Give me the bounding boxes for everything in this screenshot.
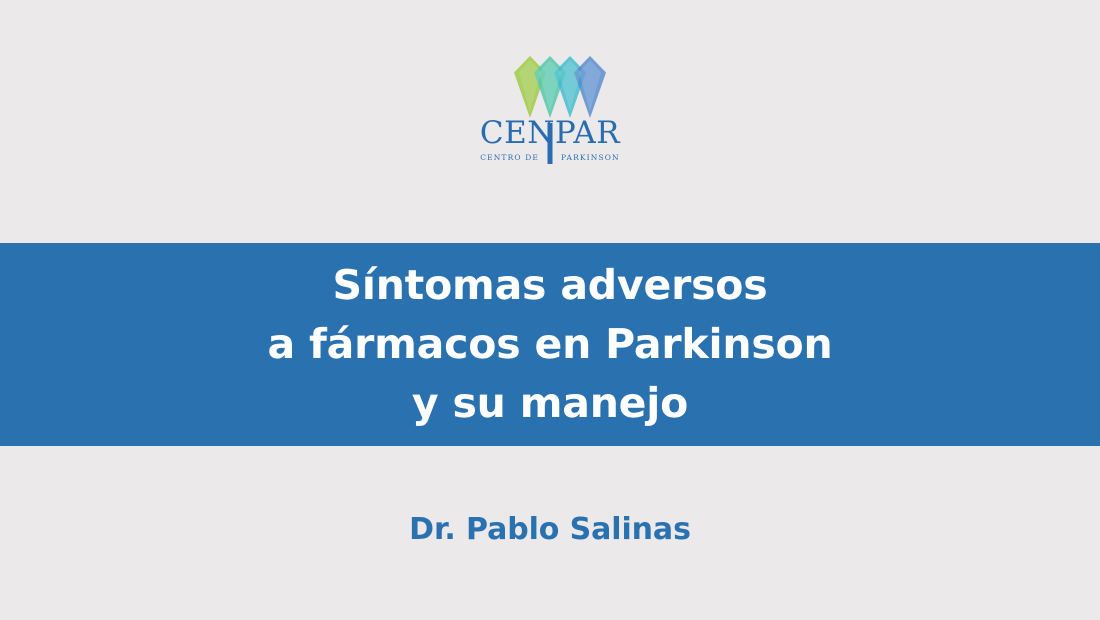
logo-diamond-mark <box>512 56 612 118</box>
logo-inner: CENPAR CENTRO DE PARKINSON <box>466 56 634 168</box>
title-line-2: a fármacos en Parkinson <box>268 315 833 374</box>
slide-title: Síntomas adversos a fármacos en Parkinso… <box>268 256 833 433</box>
title-slide: CENPAR CENTRO DE PARKINSON Síntomas adve… <box>0 0 1100 620</box>
title-line-3: y su manejo <box>268 374 833 433</box>
title-line-1: Síntomas adversos <box>268 256 833 315</box>
author-name: Dr. Pablo Salinas <box>0 510 1100 550</box>
title-band: Síntomas adversos a fármacos en Parkinso… <box>0 243 1100 446</box>
logo-wordmark: CENPAR CENTRO DE PARKINSON <box>466 112 634 168</box>
logo-p-stem <box>548 123 553 164</box>
logo-tagline-left: CENTRO DE <box>480 153 539 162</box>
logo-tagline-right: PARKINSON <box>561 153 620 162</box>
cenpar-logo: CENPAR CENTRO DE PARKINSON <box>0 56 1100 168</box>
